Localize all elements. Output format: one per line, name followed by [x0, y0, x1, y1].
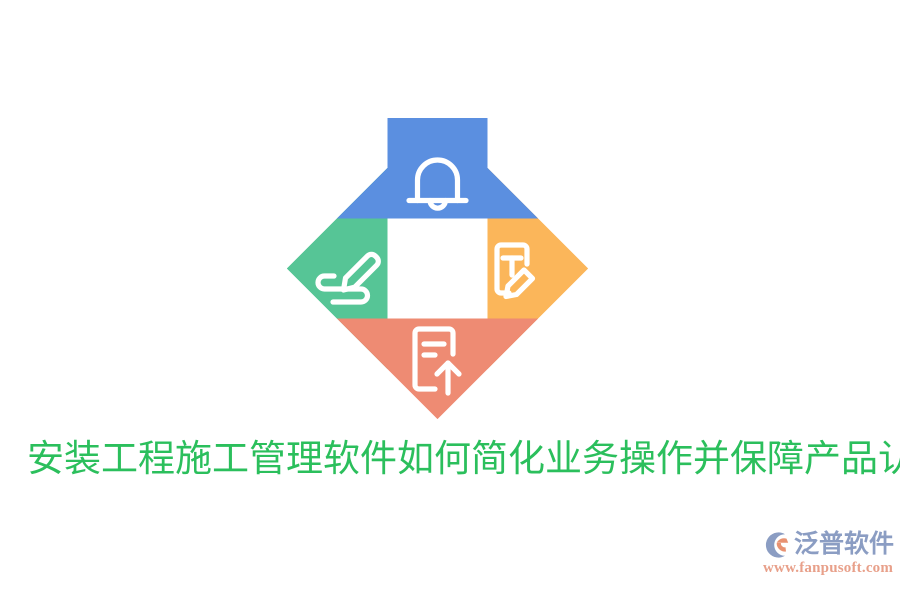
diamond-corner-fill-bottomright: [488, 319, 539, 370]
diamond-corner-fill-topleft: [337, 168, 388, 219]
fanpu-logo-arc: [766, 532, 785, 557]
fanpu-logo-inner-top: [777, 538, 789, 543]
diamond-center-panel: [388, 219, 488, 319]
brand-logo-row: 泛普软件: [762, 530, 890, 560]
brand-name: 泛普软件: [794, 530, 894, 560]
page-root: 安装工程施工管理软件如何简化业务操作并保障产品认证？ 泛普软件 www.fanp…: [0, 0, 900, 600]
fanpu-logo-icon: [762, 530, 792, 560]
diamond-corner-fill-topright: [488, 168, 539, 219]
page-headline: 安装工程施工管理软件如何简化业务操作并保障产品认证？: [27, 437, 873, 483]
diamond-corner-fill-bottomleft: [337, 319, 388, 370]
fanpu-logo-inner-bottom: [777, 543, 786, 552]
brand-url: www.fanpusoft.com: [762, 560, 890, 577]
brand-watermark[interactable]: 泛普软件 www.fanpusoft.com: [762, 530, 890, 578]
hero-graphic: [287, 118, 588, 419]
